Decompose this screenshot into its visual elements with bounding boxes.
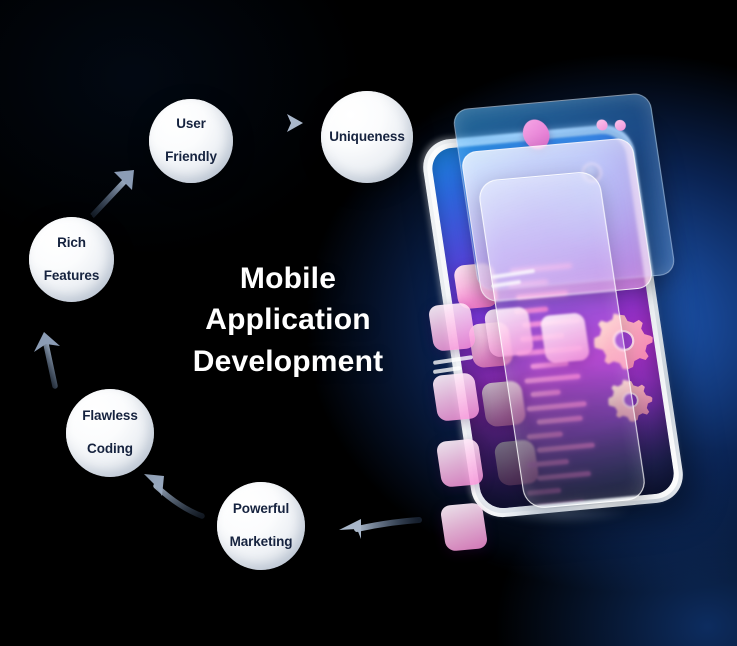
- floating-app-tile: [428, 302, 477, 351]
- arrow-rich-features-to-user-friendly: [86, 164, 146, 224]
- cycle-node-user-friendly[interactable]: User Friendly: [149, 99, 233, 183]
- page-title: Mobile Application Development: [150, 258, 426, 382]
- title-line-2: Application: [150, 299, 426, 340]
- floating-app-tile: [436, 438, 485, 487]
- cycle-node-powerful-marketing[interactable]: Powerful Marketing: [217, 482, 305, 570]
- floating-app-tile: [432, 372, 481, 421]
- title-line-1: Mobile: [150, 258, 426, 299]
- cycle-node-uniqueness[interactable]: Uniqueness: [321, 91, 413, 183]
- title-line-3: Development: [150, 341, 426, 382]
- card-dot: [614, 119, 627, 131]
- arrow-powerful-marketing-to-flawless-coding: [136, 468, 208, 526]
- cycle-node-label: Uniqueness: [317, 129, 417, 145]
- arrow-phone-to-powerful-marketing: [331, 508, 425, 550]
- cycle-node-label: Powerful Marketing: [218, 501, 305, 550]
- cycle-node-label: Flawless Coding: [70, 408, 149, 457]
- cycle-node-label: Rich Features: [32, 235, 111, 284]
- smartphone-illustration: [413, 92, 713, 562]
- infographic-canvas: Mobile Application Development: [0, 0, 737, 646]
- cycle-node-label: User Friendly: [153, 116, 229, 165]
- arrow-user-friendly-to-uniqueness: [251, 108, 309, 138]
- card-dot: [596, 119, 609, 131]
- phone-surface-reflection: [457, 510, 662, 550]
- arrow-flawless-coding-to-rich-features: [30, 326, 80, 392]
- cycle-node-flawless-coding[interactable]: Flawless Coding: [66, 389, 154, 477]
- cycle-node-rich-features[interactable]: Rich Features: [29, 217, 114, 302]
